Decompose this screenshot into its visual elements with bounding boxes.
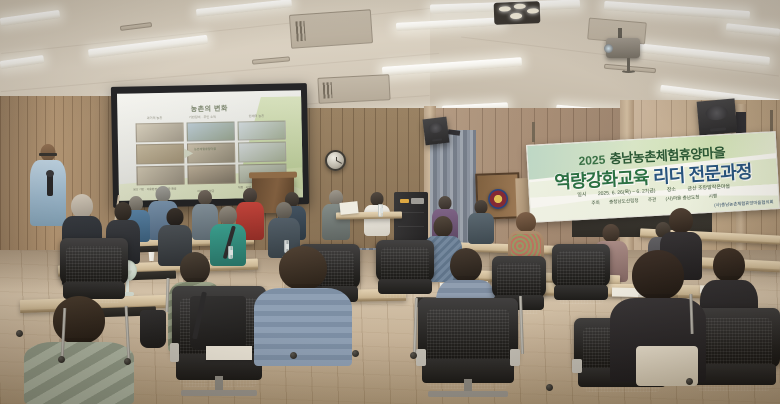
caster-wheel <box>546 384 553 391</box>
banner-sponsor-label: 시행 <box>709 193 718 198</box>
caster-wheel <box>686 378 693 385</box>
caster-wheel <box>290 352 297 359</box>
wall-clock <box>325 150 346 171</box>
projector-lens <box>604 44 613 53</box>
banner-org-value: (사)마을 충남도청 <box>665 194 699 201</box>
eyeglasses-icon <box>39 153 57 156</box>
projector-cable-loop <box>622 70 635 73</box>
caster-wheel <box>16 330 23 337</box>
banner-place-value: 금산 조랑말작은마을 <box>687 184 730 192</box>
presenter <box>30 144 66 226</box>
caster-wheel <box>410 352 417 359</box>
photo-scene: 농촌의 변화 과거의 농촌 기반정비 · 주민 소득 현재의 농촌 <box>0 0 780 404</box>
chair[interactable] <box>552 244 610 314</box>
chair-paper <box>206 346 252 360</box>
banner-host-value: 충청남도산림청 <box>609 198 639 205</box>
microphone <box>47 174 53 196</box>
chair[interactable] <box>172 286 266 404</box>
shoulder-bag <box>140 310 166 348</box>
banner-place-label: 장소 <box>667 187 677 194</box>
list-item <box>468 200 494 244</box>
chair[interactable] <box>418 298 518 404</box>
pa-speaker <box>697 98 738 135</box>
pa-speaker <box>423 117 450 146</box>
caster-wheel <box>124 358 131 365</box>
list-item <box>24 296 134 404</box>
banner-org-label: 주관 <box>648 197 657 202</box>
cap <box>71 194 93 218</box>
laptop-screen <box>339 201 358 215</box>
ceiling-air-vent <box>317 74 390 104</box>
banner-date-label: 일시 <box>577 192 587 199</box>
list-item <box>254 246 352 366</box>
banner-rope <box>532 122 535 142</box>
caster-wheel <box>58 356 65 363</box>
bottle <box>378 204 383 217</box>
microphone-head <box>46 170 54 177</box>
ceiling-air-vent <box>289 9 373 49</box>
banner-host-label: 주최 <box>591 200 600 205</box>
bottle <box>228 246 233 259</box>
caster-wheel <box>352 350 359 357</box>
event-banner: 2025 충남농촌체험휴양마을 역량강화교육 리더 전문과정 일시 2025. … <box>526 131 780 223</box>
ceiling-spotlight-cluster <box>494 1 541 25</box>
